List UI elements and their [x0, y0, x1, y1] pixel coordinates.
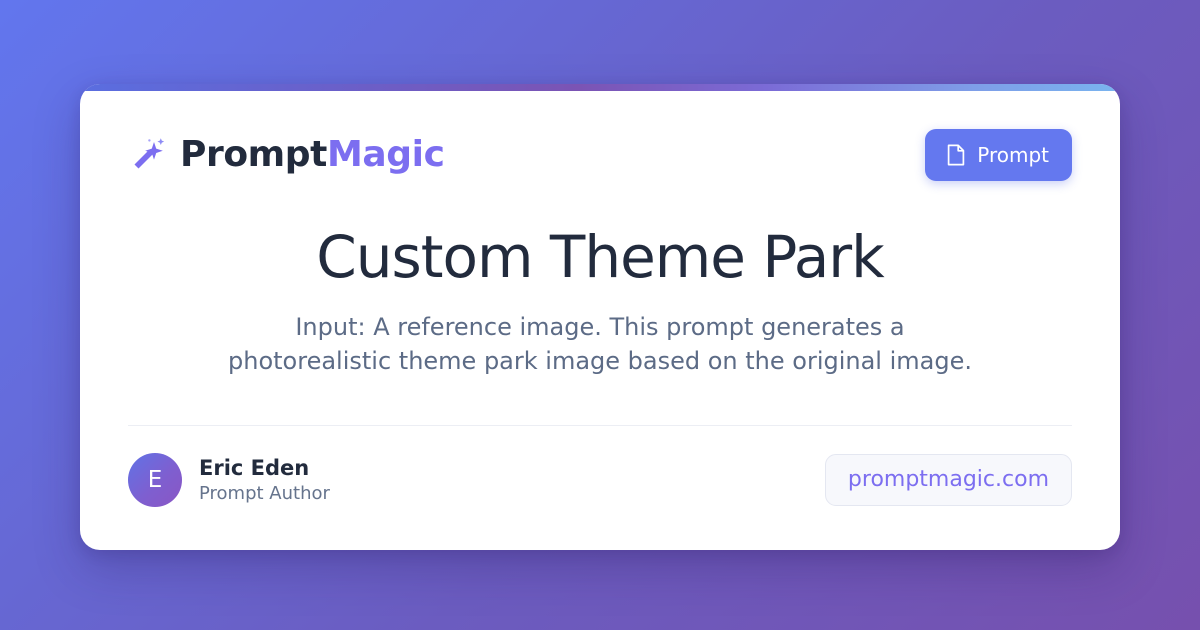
card-header: PromptMagic Prompt [128, 91, 1072, 181]
page-title: Custom Theme Park [128, 227, 1072, 288]
avatar: E [128, 453, 182, 507]
author-meta: Eric Eden Prompt Author [199, 456, 330, 505]
accent-gradient-bar [80, 84, 1120, 91]
brand-name-accent: Magic [327, 134, 445, 175]
footer-divider [128, 425, 1072, 426]
author-block: E Eric Eden Prompt Author [128, 453, 330, 507]
site-badge[interactable]: promptmagic.com [825, 454, 1072, 506]
author-name: Eric Eden [199, 456, 330, 480]
brand-logo[interactable]: PromptMagic [128, 136, 445, 174]
card-footer: E Eric Eden Prompt Author promptmagic.co… [128, 453, 1072, 507]
author-role: Prompt Author [199, 484, 330, 505]
page-subtitle: Input: A reference image. This prompt ge… [220, 310, 980, 378]
brand-name-primary: Prompt [180, 134, 327, 175]
card-body: PromptMagic Prompt Custom Theme Park Inp… [80, 91, 1120, 550]
magic-wand-icon [128, 136, 166, 174]
brand-wordmark: PromptMagic [180, 137, 445, 173]
prompt-button-label: Prompt [977, 145, 1049, 165]
hero-section: Custom Theme Park Input: A reference ima… [128, 227, 1072, 378]
file-document-icon [946, 144, 966, 166]
promo-card: PromptMagic Prompt Custom Theme Park Inp… [80, 84, 1120, 550]
prompt-button[interactable]: Prompt [925, 129, 1072, 181]
